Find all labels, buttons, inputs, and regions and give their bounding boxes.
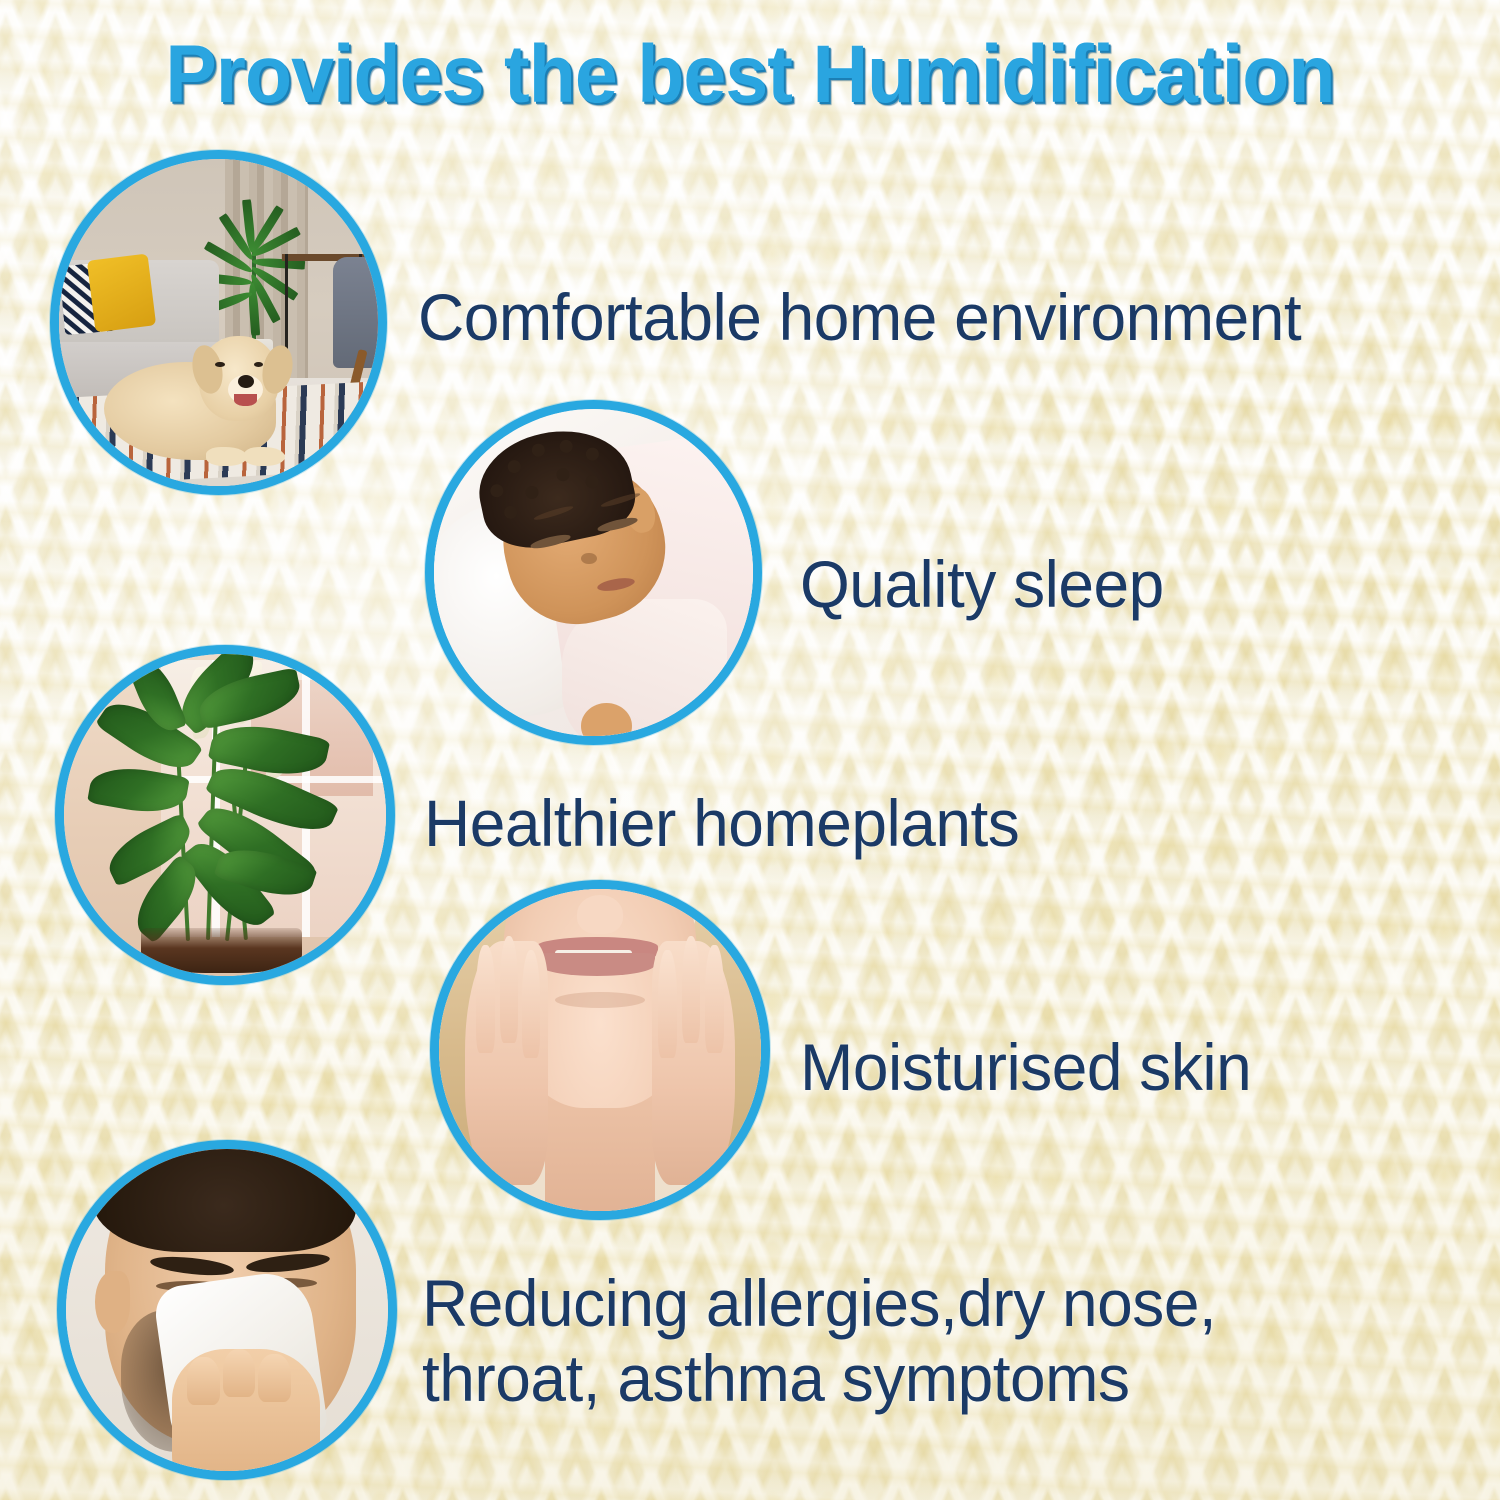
- right-hand: [652, 941, 736, 1186]
- hand: [172, 1349, 320, 1480]
- living-room-scene: [59, 159, 378, 486]
- yellow-cushion: [87, 254, 156, 333]
- sleeping-baby-scene: [434, 409, 753, 736]
- lower-lip: [539, 953, 655, 976]
- humidifier-benefits-poster: Provides the best Humidification: [0, 0, 1500, 1500]
- houseplant-scene: [64, 654, 386, 976]
- benefit-caption-moisturised-skin: Moisturised skin: [800, 1030, 1251, 1105]
- nose: [577, 895, 622, 934]
- plant-pot: [141, 928, 302, 973]
- chin-shadow: [555, 992, 645, 1008]
- baby-hand: [581, 703, 632, 745]
- benefit-caption-comfortable-home: Comfortable home environment: [418, 280, 1301, 355]
- hair: [92, 1140, 356, 1252]
- benefit-caption-healthier-homeplants: Healthier homeplants: [424, 786, 1019, 861]
- benefit-image-healthier-homeplants: [55, 645, 395, 985]
- benefit-caption-reducing-allergies: Reducing allergies,dry nose, throat, ast…: [422, 1266, 1216, 1416]
- dog-mouth: [234, 394, 256, 405]
- benefit-caption-quality-sleep: Quality sleep: [800, 547, 1164, 622]
- sneezing-man-scene: [66, 1149, 388, 1471]
- ear: [95, 1271, 130, 1332]
- baby-nose: [581, 553, 597, 564]
- benefit-image-reducing-allergies: [57, 1140, 397, 1480]
- dog-nose: [238, 375, 254, 388]
- woman-face-scene: [439, 889, 761, 1211]
- benefit-image-comfortable-home: [50, 150, 387, 495]
- left-hand: [465, 941, 549, 1186]
- benefit-image-moisturised-skin: [430, 880, 770, 1220]
- page-title: Provides the best Humidification: [45, 28, 1455, 122]
- benefit-image-quality-sleep: [425, 400, 762, 745]
